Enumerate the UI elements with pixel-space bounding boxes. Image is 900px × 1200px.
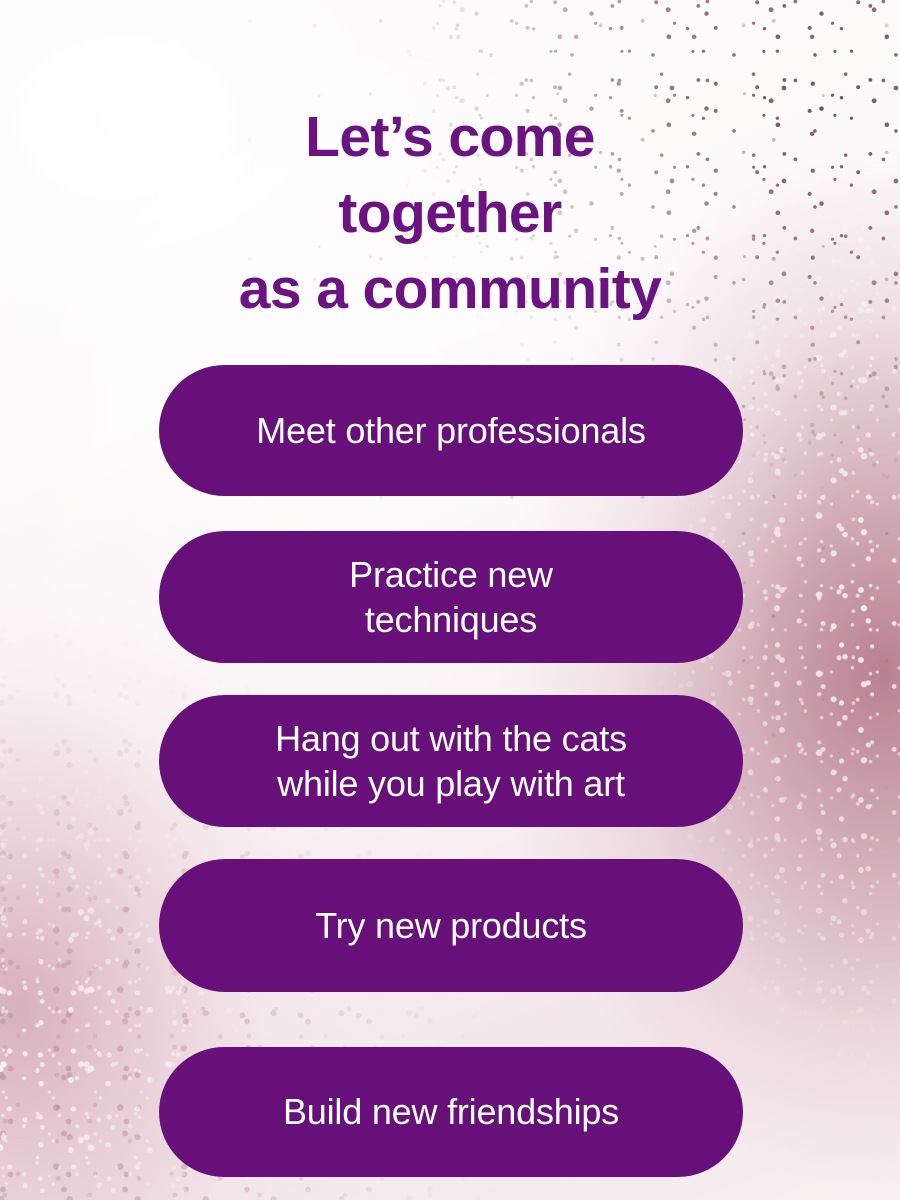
- benefit-pill-label: Build new friendships: [283, 1089, 619, 1134]
- community-promo-poster: Let’s come together as a community Meet …: [0, 0, 900, 1200]
- benefits-list: Meet other professionals Practice new te…: [159, 365, 743, 1177]
- benefit-pill-label: Hang out with the cats while you play wi…: [275, 716, 627, 807]
- benefit-pill-practice-new-techniques[interactable]: Practice new techniques: [159, 531, 743, 663]
- benefit-pill-label: Practice new techniques: [349, 552, 553, 643]
- poster-content: Let’s come together as a community Meet …: [0, 0, 900, 1200]
- benefit-pill-hang-out-with-the-cats[interactable]: Hang out with the cats while you play wi…: [159, 695, 743, 827]
- benefit-pill-build-new-friendships[interactable]: Build new friendships: [159, 1047, 743, 1177]
- benefit-pill-meet-other-professionals[interactable]: Meet other professionals: [159, 365, 743, 496]
- benefit-pill-label: Meet other professionals: [256, 408, 645, 453]
- page-title: Let’s come together as a community: [0, 100, 900, 327]
- benefit-pill-try-new-products[interactable]: Try new products: [159, 859, 743, 992]
- benefit-pill-label: Try new products: [315, 903, 587, 948]
